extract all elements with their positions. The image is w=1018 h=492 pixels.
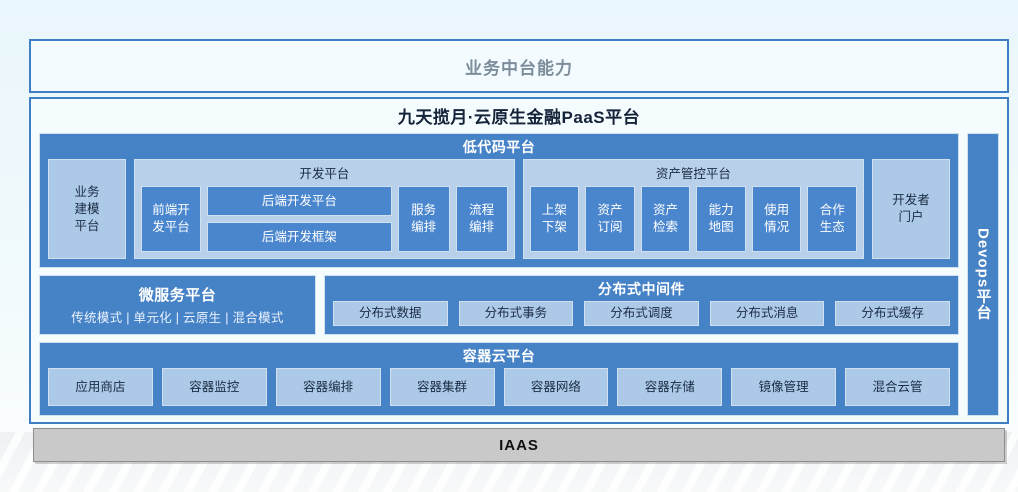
process-orchestration-line-2: 编排	[469, 219, 494, 236]
asset-item-usage-line-2: 情况	[764, 219, 789, 236]
frontend-dev-platform-card[interactable]: 前端开 发平台	[141, 186, 201, 252]
process-orchestration-line-1: 流程	[469, 202, 494, 219]
container-item-orchestration[interactable]: 容器编排	[276, 368, 381, 406]
middleware-item-data-label: 分布式数据	[359, 305, 422, 322]
backend-dev-stack: 后端开发平台 后端开发框架	[207, 186, 392, 252]
distributed-middleware-section: 分布式中间件 分布式数据 分布式事务 分布式调度	[324, 275, 959, 335]
middle-tier-row: 微服务平台 传统模式 | 单元化 | 云原生 | 混合模式 分布式中间件 分布式…	[39, 275, 959, 335]
microservice-platform-section[interactable]: 微服务平台 传统模式 | 单元化 | 云原生 | 混合模式	[39, 275, 316, 335]
container-item-orchestration-label: 容器编排	[303, 379, 353, 396]
middleware-item-messaging-label: 分布式消息	[736, 305, 799, 322]
container-item-monitoring-label: 容器监控	[189, 379, 239, 396]
container-cloud-platform-row: 应用商店 容器监控 容器编排 容器集群 容器网络	[48, 368, 950, 406]
low-code-platform-title: 低代码平台	[48, 134, 950, 159]
asset-item-search[interactable]: 资产 检索	[641, 186, 691, 252]
backend-dev-platform-card[interactable]: 后端开发平台	[207, 186, 392, 216]
container-cloud-platform-section: 容器云平台 应用商店 容器监控 容器编排 容器集群	[39, 342, 959, 416]
frontend-dev-line-2: 发平台	[152, 219, 190, 236]
middleware-item-data[interactable]: 分布式数据	[333, 301, 448, 326]
business-modeling-platform-card[interactable]: 业务 建模 平台	[48, 159, 126, 259]
asset-management-platform-group: 资产管控平台 上架 下架 资产 订阅	[523, 159, 864, 259]
backend-dev-framework-card[interactable]: 后端开发框架	[207, 222, 392, 252]
asset-item-capability-map-line-1: 能力	[709, 202, 734, 219]
container-item-app-store[interactable]: 应用商店	[48, 368, 153, 406]
business-middle-platform-label: 业务中台能力	[465, 54, 573, 79]
low-code-platform-row: 业务 建模 平台 开发平台 前端开 发平台	[48, 159, 950, 259]
asset-item-ecosystem[interactable]: 合作 生态	[807, 186, 857, 252]
asset-item-ecosystem-line-2: 生态	[820, 219, 845, 236]
developer-portal-line-2: 门户	[898, 209, 923, 226]
container-item-image-management-label: 镜像管理	[759, 379, 809, 396]
container-item-hybrid-cloud[interactable]: 混合云管	[845, 368, 950, 406]
devops-platform-sidebar[interactable]: Devops平台	[967, 133, 999, 416]
asset-item-capability-map[interactable]: 能力 地图	[696, 186, 746, 252]
low-code-platform-section: 低代码平台 业务 建模 平台 开发平台	[39, 133, 959, 268]
paas-platform-title: 九天揽月·云原生金融PaaS平台	[31, 99, 1007, 131]
developer-portal-card[interactable]: 开发者 门户	[872, 159, 950, 259]
container-item-cluster[interactable]: 容器集群	[390, 368, 495, 406]
dev-platform-row: 前端开 发平台 后端开发平台 后端开发框架	[141, 186, 508, 252]
middleware-item-cache-label: 分布式缓存	[861, 305, 924, 322]
dev-platform-title: 开发平台	[141, 160, 508, 186]
middleware-item-scheduling-label: 分布式调度	[610, 305, 673, 322]
service-orchestration-line-1: 服务	[411, 202, 436, 219]
middleware-item-messaging[interactable]: 分布式消息	[710, 301, 825, 326]
asset-item-listing[interactable]: 上架 下架	[530, 186, 580, 252]
container-item-monitoring[interactable]: 容器监控	[162, 368, 267, 406]
asset-item-search-line-2: 检索	[653, 219, 678, 236]
distributed-middleware-row: 分布式数据 分布式事务 分布式调度 分布式消息	[333, 301, 950, 326]
asset-item-subscription[interactable]: 资产 订阅	[585, 186, 635, 252]
paas-platform-body: 低代码平台 业务 建模 平台 开发平台	[39, 133, 999, 416]
backend-dev-platform-label: 后端开发平台	[262, 193, 337, 210]
iaas-band: IAAS	[33, 428, 1005, 462]
process-orchestration-card[interactable]: 流程 编排	[456, 186, 508, 252]
middleware-item-cache[interactable]: 分布式缓存	[835, 301, 950, 326]
devops-platform-label: Devops平台	[973, 228, 994, 320]
asset-item-subscription-line-1: 资产	[597, 202, 622, 219]
container-item-network[interactable]: 容器网络	[504, 368, 609, 406]
service-orchestration-line-2: 编排	[411, 219, 436, 236]
middleware-item-transaction-label: 分布式事务	[485, 305, 548, 322]
architecture-diagram: 业务中台能力 九天揽月·云原生金融PaaS平台 低代码平台 业务 建模 平台	[0, 0, 1018, 492]
backend-dev-framework-label: 后端开发框架	[262, 229, 337, 246]
container-item-app-store-label: 应用商店	[75, 379, 125, 396]
microservice-platform-title: 微服务平台	[139, 284, 217, 305]
developer-portal-line-1: 开发者	[892, 192, 930, 209]
distributed-middleware-title: 分布式中间件	[333, 276, 950, 301]
container-item-storage[interactable]: 容器存储	[617, 368, 722, 406]
business-modeling-line-3: 平台	[74, 218, 99, 235]
container-item-storage-label: 容器存储	[645, 379, 695, 396]
container-item-hybrid-cloud-label: 混合云管	[873, 379, 923, 396]
middleware-item-scheduling[interactable]: 分布式调度	[584, 301, 699, 326]
container-item-image-management[interactable]: 镜像管理	[731, 368, 836, 406]
paas-stack-column: 低代码平台 业务 建模 平台 开发平台	[39, 133, 959, 416]
iaas-label: IAAS	[499, 437, 539, 454]
business-middle-platform-band: 业务中台能力	[29, 39, 1009, 93]
asset-item-listing-line-1: 上架	[542, 202, 567, 219]
container-item-cluster-label: 容器集群	[417, 379, 467, 396]
asset-management-platform-title: 资产管控平台	[530, 160, 857, 186]
paas-platform-frame: 九天揽月·云原生金融PaaS平台 低代码平台 业务 建模 平台	[29, 97, 1009, 424]
asset-management-platform-row: 上架 下架 资产 订阅 资产 检索	[530, 186, 857, 252]
business-modeling-line-1: 业务	[74, 184, 99, 201]
frontend-dev-line-1: 前端开	[152, 202, 190, 219]
asset-item-search-line-1: 资产	[653, 202, 678, 219]
container-item-network-label: 容器网络	[531, 379, 581, 396]
service-orchestration-card[interactable]: 服务 编排	[398, 186, 450, 252]
asset-item-ecosystem-line-1: 合作	[820, 202, 845, 219]
microservice-platform-subtitle: 传统模式 | 单元化 | 云原生 | 混合模式	[71, 307, 283, 326]
asset-item-usage[interactable]: 使用 情况	[752, 186, 802, 252]
dev-platform-group: 开发平台 前端开 发平台 后端开发平台	[134, 159, 515, 259]
asset-item-capability-map-line-2: 地图	[709, 219, 734, 236]
asset-item-subscription-line-2: 订阅	[597, 219, 622, 236]
middleware-item-transaction[interactable]: 分布式事务	[459, 301, 574, 326]
business-modeling-line-2: 建模	[74, 201, 99, 218]
asset-item-listing-line-2: 下架	[542, 219, 567, 236]
asset-item-usage-line-1: 使用	[764, 202, 789, 219]
container-cloud-platform-title: 容器云平台	[48, 343, 950, 368]
